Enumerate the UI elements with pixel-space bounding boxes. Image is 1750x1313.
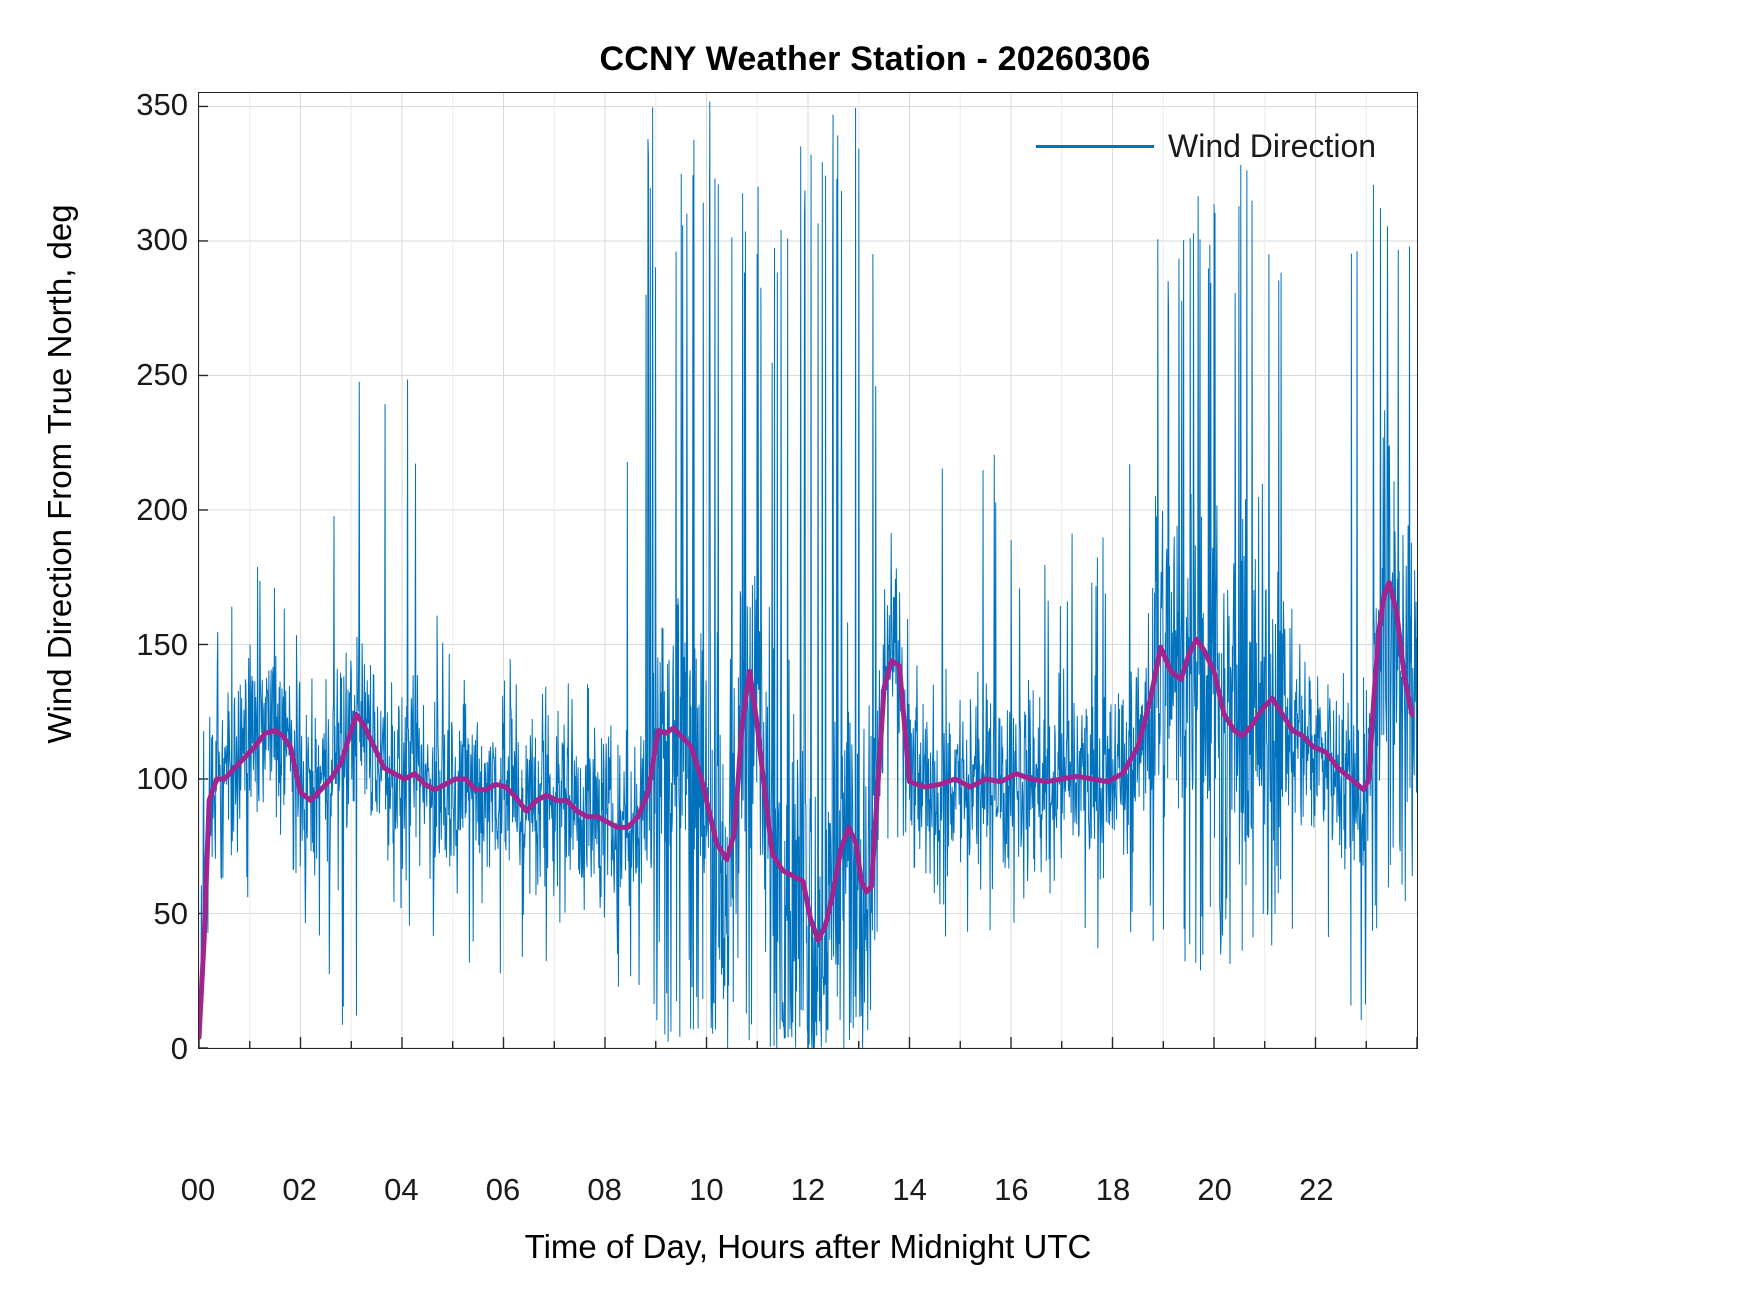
x-tick-label: 20: [1170, 1172, 1260, 1208]
chart-title: CCNY Weather Station - 20260306: [0, 40, 1750, 79]
legend: Wind Direction: [1030, 118, 1382, 174]
x-tick-label: 22: [1271, 1172, 1361, 1208]
y-tick-label: 350: [68, 87, 188, 123]
x-tick-label: 16: [966, 1172, 1056, 1208]
x-tick-label: 06: [458, 1172, 548, 1208]
legend-label: Wind Direction: [1168, 128, 1376, 165]
y-tick-label: 150: [68, 627, 188, 663]
x-tick-label: 00: [153, 1172, 243, 1208]
y-tick-label: 250: [68, 357, 188, 393]
x-axis-label: Time of Day, Hours after Midnight UTC: [198, 1228, 1418, 1266]
y-axis-label: Wind Direction From True North, deg: [41, 0, 79, 954]
y-tick-label: 100: [68, 761, 188, 797]
y-tick-label: 300: [68, 222, 188, 258]
legend-line-swatch: [1036, 145, 1154, 148]
figure-canvas: CCNY Weather Station - 20260306 05010015…: [0, 0, 1750, 1313]
plot-area: [198, 92, 1418, 1049]
x-tick-label: 04: [356, 1172, 446, 1208]
y-tick-label: 200: [68, 492, 188, 528]
y-tick-label: 0: [68, 1031, 188, 1067]
x-tick-label: 10: [661, 1172, 751, 1208]
x-tick-label: 02: [255, 1172, 345, 1208]
data-layer: [199, 93, 1417, 1048]
x-tick-label: 08: [560, 1172, 650, 1208]
x-tick-label: 14: [865, 1172, 955, 1208]
y-tick-label: 50: [68, 896, 188, 932]
x-tick-label: 18: [1068, 1172, 1158, 1208]
x-tick-label: 12: [763, 1172, 853, 1208]
